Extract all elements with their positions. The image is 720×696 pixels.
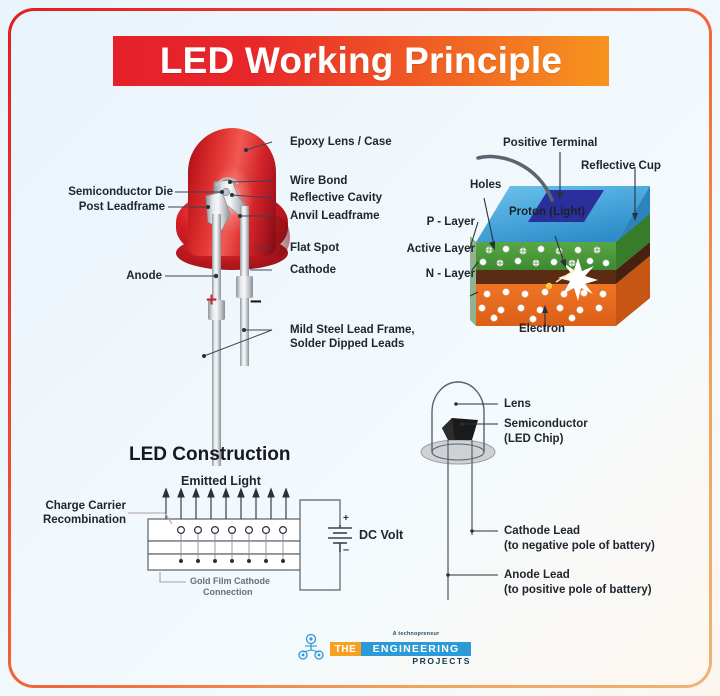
- leader-dot-anode-lead: [446, 573, 450, 577]
- footer-logo[interactable]: A technopreneur THE ENGINEERING PROJECTS: [297, 631, 477, 665]
- label-cathode-lead-line2: (to negative pole of battery): [504, 540, 655, 554]
- label-lens: Lens: [504, 398, 531, 412]
- robot-icon: [297, 633, 325, 663]
- leader-dot-lens: [454, 402, 458, 406]
- logo-the: THE: [330, 642, 361, 656]
- label-semiconductor-line1: Semiconductor: [504, 418, 588, 432]
- label-semiconductor-line2: (LED Chip): [504, 433, 563, 447]
- label-anode-lead-line2: (to positive pole of battery): [504, 584, 652, 598]
- infographic-root: LED Working Principle: [0, 0, 720, 696]
- logo-engineering: ENGINEERING: [361, 642, 471, 656]
- label-anode-lead-line1: Anode Lead: [504, 569, 570, 583]
- logo-projects: PROJECTS: [361, 656, 471, 666]
- leader-dot-semiconductor: [460, 422, 464, 426]
- led-outline-diagram: Lens Semiconductor (LED Chip) Cathode Le…: [0, 0, 720, 696]
- leader-dot-cathode-lead: [470, 529, 474, 533]
- logo-tagline: A technopreneur: [361, 631, 471, 640]
- label-cathode-lead-line1: Cathode Lead: [504, 525, 580, 539]
